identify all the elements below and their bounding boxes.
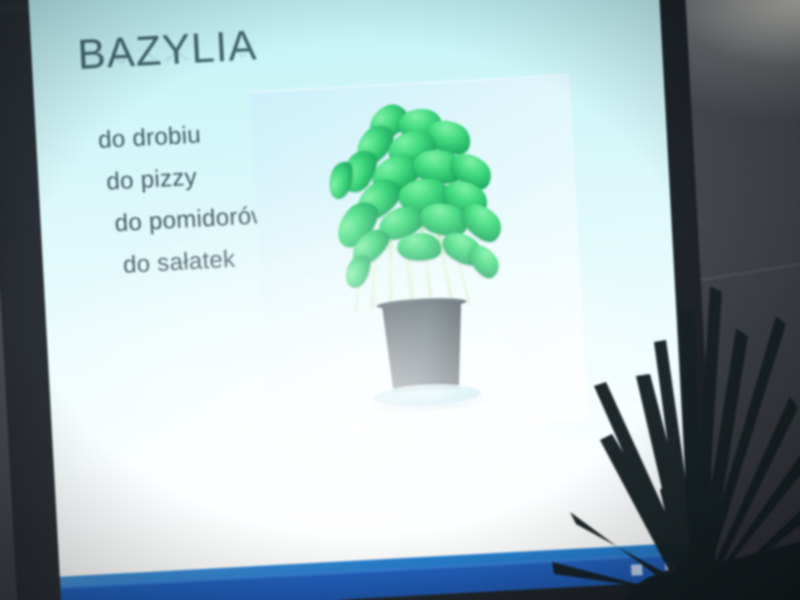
projection-screen: BAZYLIA - Microsoft PowerPoint Viewer Ba…	[0, 0, 718, 600]
network-icon[interactable]	[648, 563, 660, 575]
page-title-text: Bazylia	[76, 21, 258, 78]
powerpoint-slide: Bazylia Bazylia do drobiu do pizzy do po…	[28, 0, 688, 577]
basil-plant-illustration	[306, 101, 532, 422]
photo-canvas: BAZYLIA - Microsoft PowerPoint Viewer Ba…	[0, 0, 800, 600]
bullet-list: do drobiu do pizzy do pomidorów do sałat…	[97, 111, 272, 288]
flower-pot	[379, 302, 470, 393]
list-item: do sałatek	[104, 237, 272, 288]
basil-canopy	[306, 101, 526, 297]
page-title: Bazylia	[76, 21, 258, 79]
flag-icon[interactable]	[665, 562, 677, 574]
slide-picture-basil	[250, 74, 588, 436]
volume-icon[interactable]	[631, 564, 643, 576]
list-item: do pomidorów	[102, 195, 270, 246]
